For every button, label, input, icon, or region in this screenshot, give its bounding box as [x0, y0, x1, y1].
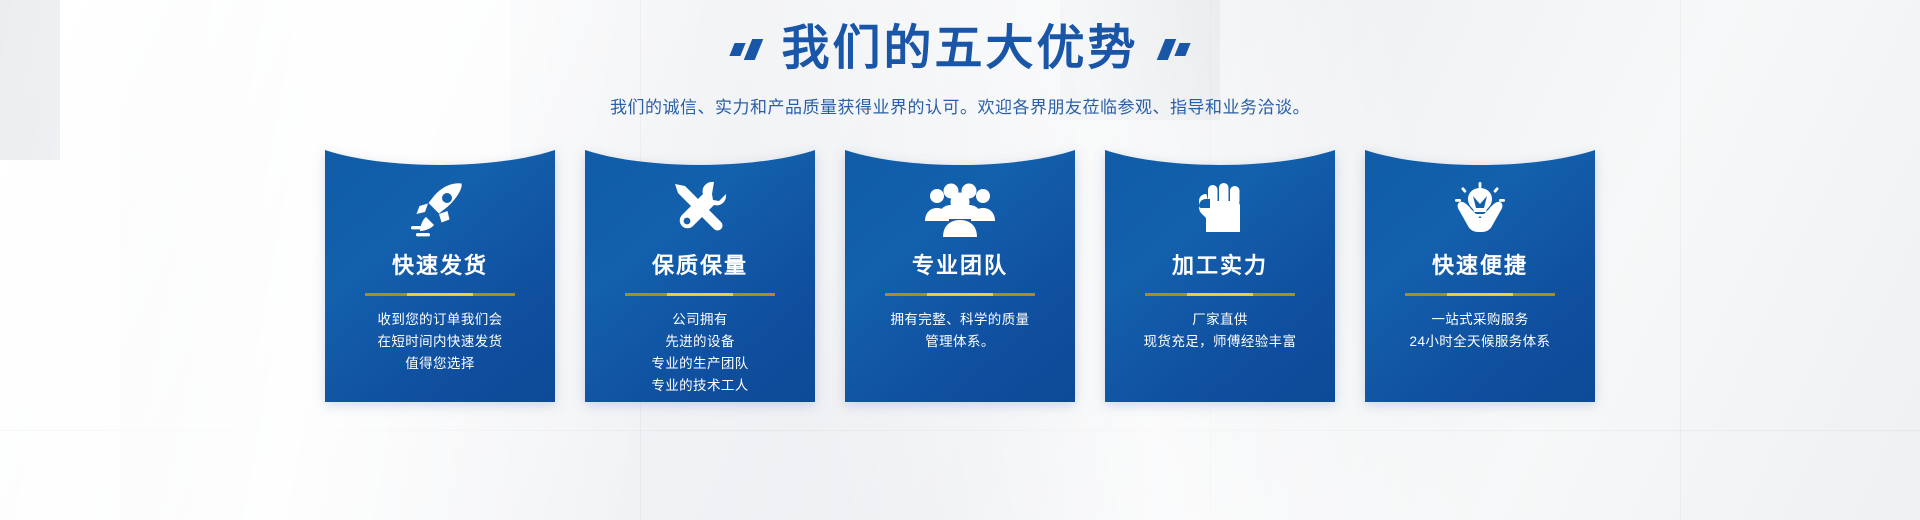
card-body-line: 管理体系。	[891, 331, 1030, 353]
card-body-line: 值得您选择	[377, 353, 502, 375]
advantage-card[interactable]: 加工实力 厂家直供 现货充足，师傅经验丰富	[1105, 140, 1335, 402]
page-title: 我们的五大优势	[781, 25, 1138, 73]
title-row: 我们的五大优势	[0, 18, 1920, 80]
card-divider	[625, 293, 775, 296]
card-title: 专业团队	[912, 255, 1008, 277]
card-body: 公司拥有 先进的设备 专业的生产团队 专业的技术工人	[651, 309, 748, 396]
slash-marks-icon	[732, 27, 759, 71]
card-body-line: 先进的设备	[651, 331, 748, 353]
card-body-line: 拥有完整、科学的质量	[891, 309, 1030, 331]
card-body-line: 现货充足，师傅经验丰富	[1144, 331, 1297, 353]
card-body: 厂家直供 现货充足，师傅经验丰富	[1144, 309, 1297, 353]
advantage-card[interactable]: 快速便捷 一站式采购服务 24小时全天候服务体系	[1365, 140, 1595, 402]
card-body: 收到您的订单我们会 在短时间内快速发货 值得您选择	[377, 309, 502, 375]
card-body-line: 专业的技术工人	[651, 375, 748, 397]
card-body-line: 在短时间内快速发货	[377, 331, 502, 353]
card-body-line: 24小时全天候服务体系	[1410, 331, 1551, 353]
advantage-card-list: 快速发货 收到您的订单我们会 在短时间内快速发货 值得您选择	[0, 140, 1920, 402]
wrench-screwdriver-icon	[670, 182, 730, 238]
card-title: 保质保量	[652, 255, 748, 277]
card-body-line: 一站式采购服务	[1410, 309, 1551, 331]
advantage-card[interactable]: 快速发货 收到您的订单我们会 在短时间内快速发货 值得您选择	[325, 140, 555, 402]
advantage-card[interactable]: 保质保量 公司拥有 先进的设备 专业的生产团队 专业的技术工人	[585, 140, 815, 402]
page-subtitle: 我们的诚信、实力和产品质量获得业界的认可。欢迎各界朋友莅临参观、指导和业务洽谈。	[0, 93, 1920, 118]
banner-header: 我们的五大优势 我们的诚信、实力和产品质量获得业界的认可。欢迎各界朋友莅临参观、…	[0, 0, 1920, 118]
slash-marks-icon	[1161, 27, 1188, 71]
card-body: 拥有完整、科学的质量 管理体系。	[891, 309, 1030, 353]
card-divider	[365, 293, 515, 296]
card-body-line: 专业的生产团队	[651, 353, 748, 375]
advantage-card[interactable]: 专业团队 拥有完整、科学的质量 管理体系。	[845, 140, 1075, 402]
hands-lightbulb-icon	[1449, 182, 1511, 238]
card-title: 加工实力	[1172, 255, 1268, 277]
rocket-icon	[409, 182, 471, 238]
card-body-line: 厂家直供	[1144, 309, 1297, 331]
card-title: 快速发货	[392, 255, 488, 277]
team-people-icon	[924, 182, 996, 238]
card-divider	[1145, 293, 1295, 296]
card-divider	[1405, 293, 1555, 296]
card-body-line: 公司拥有	[651, 309, 748, 331]
card-divider	[885, 293, 1035, 296]
card-body: 一站式采购服务 24小时全天候服务体系	[1410, 309, 1551, 353]
advantages-banner: 我们的五大优势 我们的诚信、实力和产品质量获得业界的认可。欢迎各界朋友莅临参观、…	[0, 0, 1920, 520]
card-title: 快速便捷	[1432, 255, 1528, 277]
fist-icon	[1192, 182, 1248, 238]
card-body-line: 收到您的订单我们会	[377, 309, 502, 331]
